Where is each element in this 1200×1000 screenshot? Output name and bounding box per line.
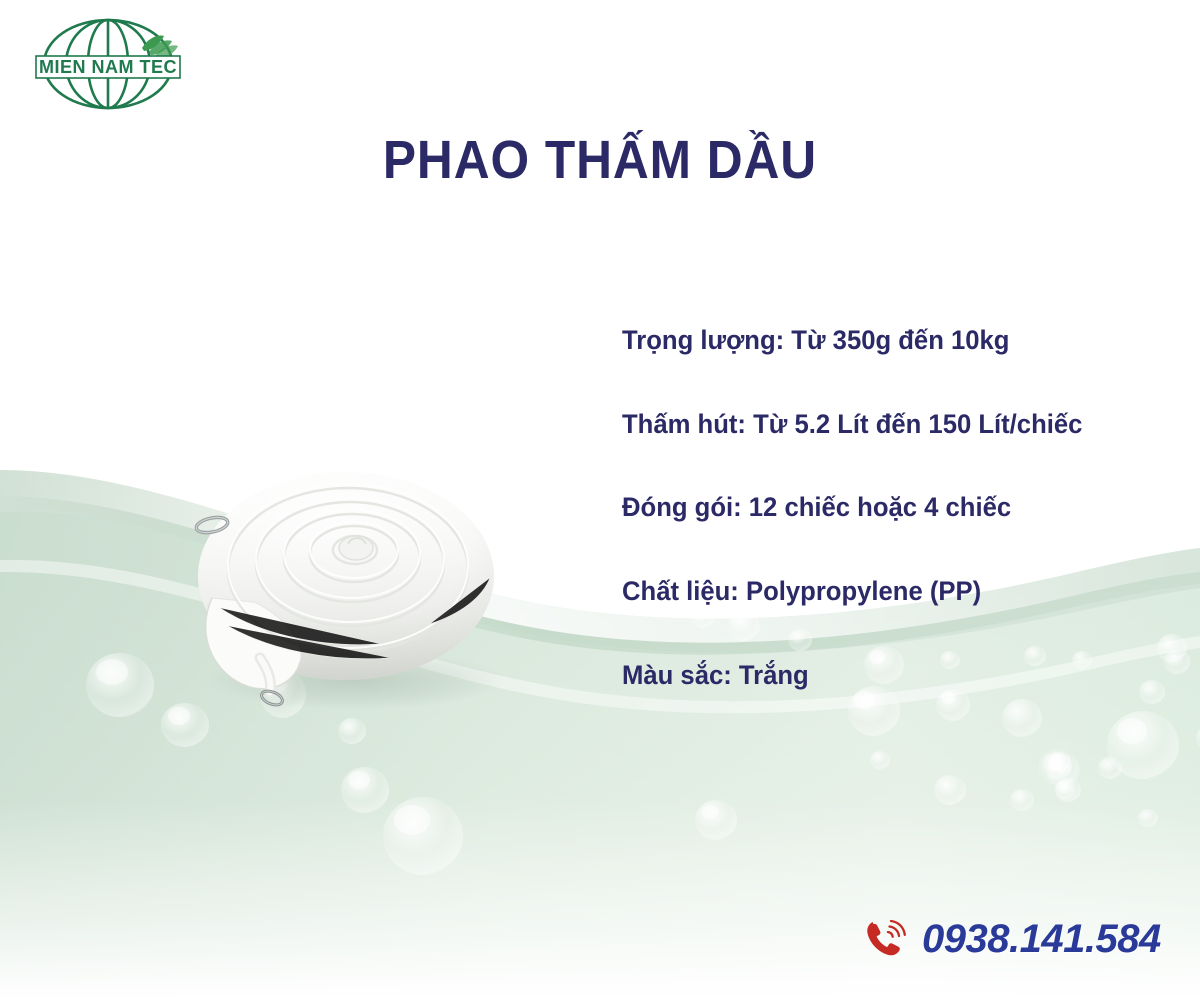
- brand-logo[interactable]: MIEN NAM TEC: [22, 12, 194, 116]
- spec-row-absorption: Thấm hút: Từ 5.2 Lít đến 150 Lít/chiếc: [622, 410, 1154, 440]
- spec-row-weight: Trọng lượng: Từ 350g đến 10kg: [622, 326, 1154, 356]
- page-title: PHAO THẤM DẦU: [260, 132, 941, 189]
- spec-row-packaging: Đóng gói: 12 chiếc hoặc 4 chiếc: [622, 493, 1154, 523]
- phone-number-text[interactable]: 0938.141.584: [922, 919, 1161, 959]
- poster-canvas: MIEN NAM TEC PHAO THẤM DẦU: [0, 0, 1200, 1000]
- logo-text: MIEN NAM TEC: [39, 57, 177, 77]
- spec-row-color: Màu sắc: Trắng: [622, 661, 1154, 691]
- phone-ringing-icon: [862, 916, 908, 962]
- contact-phone[interactable]: 0938.141.584: [862, 916, 1161, 962]
- specifications-list: Trọng lượng: Từ 350g đến 10kg Thấm hút: …: [622, 326, 1182, 690]
- product-image: [150, 448, 550, 738]
- globe-leaf-icon: MIEN NAM TEC: [22, 12, 194, 116]
- spec-row-material: Chất liệu: Polypropylene (PP): [622, 577, 1154, 607]
- coiled-boom-illustration: [150, 448, 550, 738]
